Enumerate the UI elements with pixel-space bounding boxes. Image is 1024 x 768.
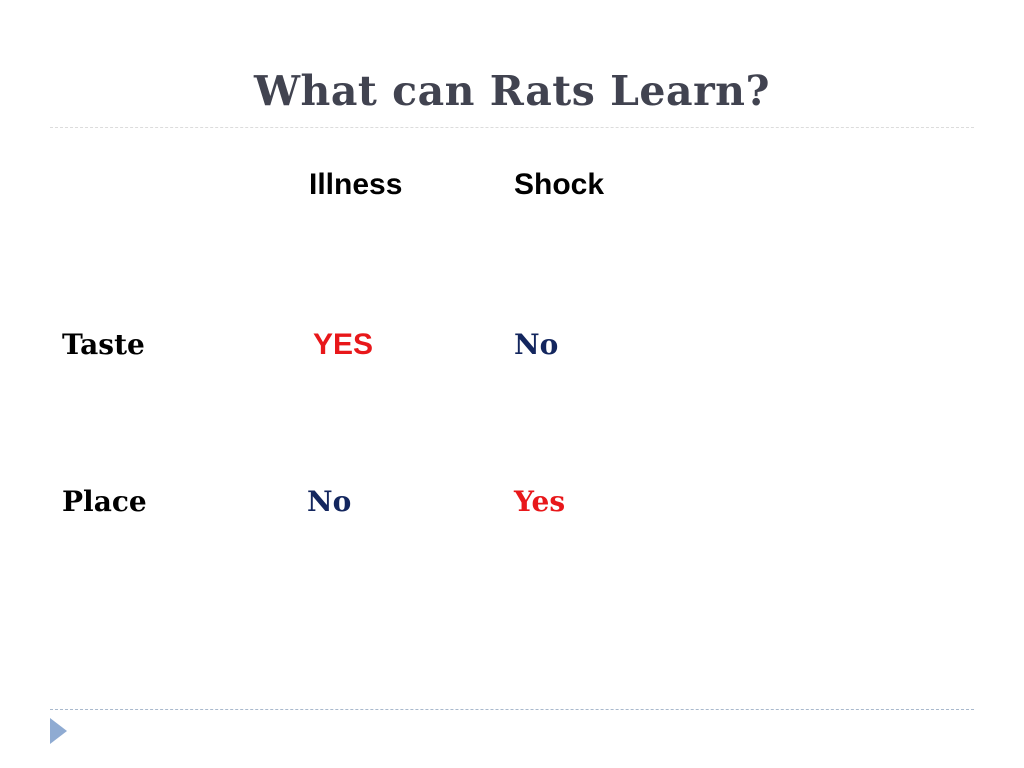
table-row: Taste YES No	[0, 330, 1024, 488]
page-title: What can Rats Learn?	[254, 71, 770, 112]
column-header-illness: Illness	[305, 170, 510, 200]
row-header-taste: Taste	[0, 331, 305, 359]
learning-matrix-table: Illness Shock Taste YES No Place No Yes	[0, 170, 1024, 646]
column-header-shock: Shock	[510, 170, 715, 200]
table-row: Place No Yes	[0, 488, 1024, 646]
cell-place-shock: Yes	[510, 488, 715, 516]
row-header-place: Place	[0, 488, 305, 516]
cell-taste-shock: No	[510, 331, 715, 359]
cell-taste-illness: YES	[305, 330, 510, 360]
footer-divider-bottom	[50, 709, 974, 710]
title-area: What can Rats Learn?	[50, 62, 974, 120]
slide-canvas: What can Rats Learn? Illness Shock Taste…	[0, 0, 1024, 768]
table-header-row: Illness Shock	[0, 170, 1024, 330]
play-triangle-icon	[50, 718, 67, 744]
title-divider-top	[50, 127, 974, 128]
cell-place-illness: No	[305, 488, 510, 516]
